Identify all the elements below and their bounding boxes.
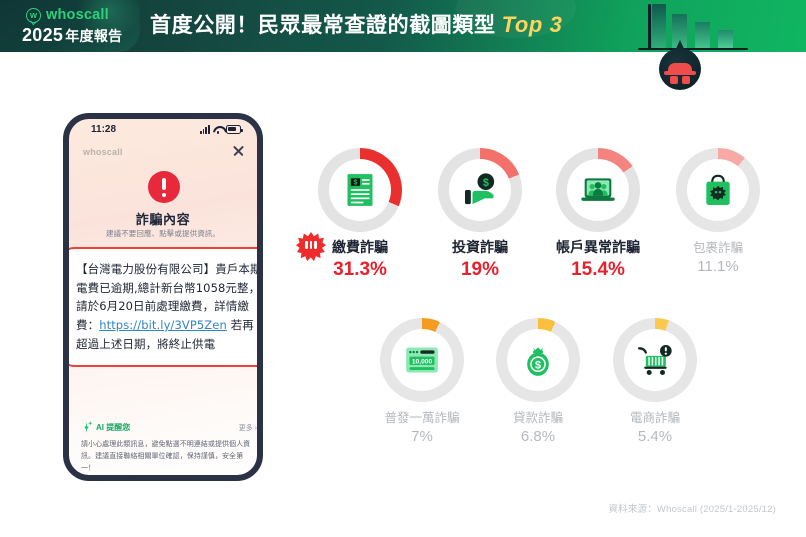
browser-cash-icon: 10,000: [391, 329, 453, 391]
scam-stat-label: 包裹詐騙: [676, 237, 760, 256]
page-title: 首度公開！民眾最常查證的截圖類型Top 3: [150, 9, 562, 39]
scam-stat-label: 貸款詐騙: [496, 407, 580, 426]
invoice-bill-icon: $: [329, 159, 391, 221]
scam-stat-donut: $: [496, 318, 580, 402]
page-title-main: 首度公開！民眾最常查證的截圖類型: [150, 14, 496, 37]
report-label: 年度報告: [65, 28, 122, 44]
header-chart-axis: [648, 4, 651, 50]
scam-stat-value: 5.4%: [613, 428, 697, 445]
scam-stat-card: 帳戶異常詐騙15.4%: [556, 148, 640, 281]
scam-stat-donut: 10,000: [380, 318, 464, 402]
report-subtitle: 2025年度報告: [22, 25, 122, 46]
scam-stat-label: 帳戶異常詐騙: [556, 237, 640, 257]
scam-stat-donut: $: [438, 148, 522, 232]
ai-reminder-title: AI 提醒您: [96, 422, 130, 433]
scam-message-box: 【台灣電力股份有限公司】貴戶本期電費已逾期,總計新台幣1058元整，請於6月20…: [63, 247, 263, 367]
alert-title: 詐騙內容: [69, 209, 257, 228]
scam-stat-card: 電商詐騙5.4%: [613, 318, 697, 445]
whoscall-logo-icon: w: [26, 8, 41, 23]
svg-text:10,000: 10,000: [412, 358, 433, 365]
ai-reminder-block: AI 提醒您 更多 › 請小心處理此類訊息，避免點選不明連結或提供個人資訊。建議…: [81, 422, 257, 474]
scam-stat-value: 15.4%: [556, 259, 640, 281]
ai-reminder-body: 請小心處理此類訊息，避免點選不明連結或提供個人資訊。建議直接聯絡相關單位確認，保…: [81, 439, 257, 474]
scam-stat-card: $投資詐騙19%: [438, 148, 522, 281]
scam-stat-donut: [613, 318, 697, 402]
ai-sparkle-icon: [81, 422, 92, 433]
signal-bars-icon: [200, 125, 210, 134]
laptop-users-icon: [567, 159, 629, 221]
page-title-accent: Top 3: [502, 12, 563, 37]
header-chart-bar: [652, 4, 666, 48]
scam-stat-value: 31.3%: [318, 259, 402, 281]
scam-stat-value: 6.8%: [496, 428, 580, 445]
alert-subtitle: 建議不要回應、點擊或提供資訊。: [69, 228, 257, 239]
hand-holding-coin-icon: $: [449, 159, 511, 221]
scam-stat-value: 11.1%: [676, 258, 760, 275]
brand-logo-card: w whoscall 2025年度報告: [0, 0, 140, 52]
scam-stat-donut: [676, 148, 760, 232]
money-bag-icon: $: [507, 329, 569, 391]
source-note: 資料來源：Whoscall (2025/1-2025/12): [608, 501, 776, 515]
svg-text:$: $: [535, 359, 541, 371]
brand-name: whoscall: [46, 7, 109, 23]
phone-status-bar: 11:28: [69, 124, 257, 138]
status-time: 11:28: [91, 124, 116, 135]
scam-stat-label: 繳費詐騙: [318, 237, 402, 257]
scam-message-link[interactable]: https://bit.ly/3VP5Zen: [99, 318, 227, 332]
scam-stat-card: 10,000普發一萬詐騙7%: [380, 318, 464, 445]
scam-stat-label: 電商詐騙: [613, 407, 697, 426]
scam-stat-card: $繳費詐騙31.3%: [318, 148, 402, 281]
scam-stat-label: 投資詐騙: [438, 237, 522, 257]
svg-text:$: $: [353, 179, 357, 187]
header-chart-bar: [718, 30, 733, 48]
spy-hat-icon: [659, 44, 701, 90]
scam-stat-card: $貸款詐騙6.8%: [496, 318, 580, 445]
scam-stat-donut: $: [318, 148, 402, 232]
infographic-page: w whoscall 2025年度報告 首度公開！民眾最常查證的截圖類型Top …: [0, 0, 806, 537]
phone-app-brand: whoscall: [83, 147, 123, 157]
shopping-bag-virus-icon: [687, 159, 749, 221]
phone-mockup: 11:28 whoscall 詐騙內容 建議不要回應、點擊或提供資訊。 【台灣電…: [63, 113, 263, 481]
scam-stat-value: 19%: [438, 259, 522, 281]
battery-icon: [226, 125, 241, 134]
scam-stat-label: 普發一萬詐騙: [380, 407, 464, 426]
svg-text:$: $: [483, 177, 489, 189]
wifi-icon: [213, 125, 223, 134]
scam-stat-value: 7%: [380, 428, 464, 445]
ai-more-link[interactable]: 更多 ›: [239, 423, 257, 433]
report-year: 2025: [22, 25, 63, 45]
status-icons: [200, 125, 241, 134]
ai-reminder-header: AI 提醒您 更多 ›: [81, 422, 257, 433]
ai-reminder-title-group: AI 提醒您: [81, 422, 130, 433]
scam-stat-donut: [556, 148, 640, 232]
close-icon[interactable]: [232, 144, 245, 157]
brand-logo: w whoscall: [26, 7, 109, 23]
warning-exclamation-icon: [148, 171, 180, 203]
scam-stat-card: 包裹詐騙11.1%: [676, 148, 760, 275]
shopping-cart-alert-icon: [624, 329, 686, 391]
